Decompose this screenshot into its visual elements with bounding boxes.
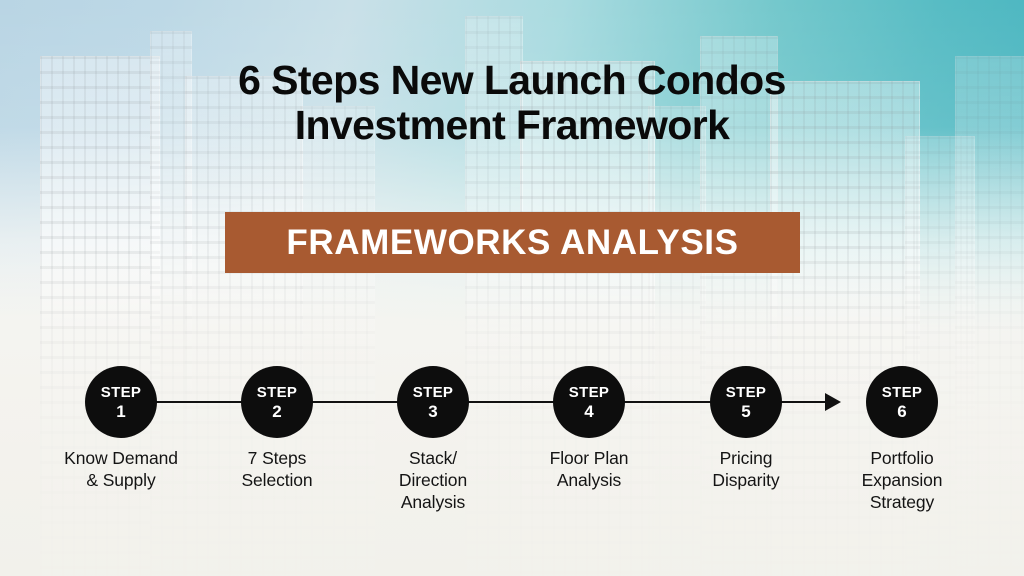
timeline-step-2[interactable]: STEP27 Steps Selection [187, 366, 367, 491]
step-kicker: STEP [257, 385, 297, 400]
step-badge-circle[interactable]: STEP3 [397, 366, 469, 438]
timeline-step-4[interactable]: STEP4Floor Plan Analysis [499, 366, 679, 491]
step-badge-circle[interactable]: STEP5 [710, 366, 782, 438]
presentation-slide: 6 Steps New Launch Condos Investment Fra… [0, 0, 1024, 576]
step-kicker: STEP [726, 385, 766, 400]
timeline-step-3[interactable]: STEP3Stack/ Direction Analysis [343, 366, 523, 513]
timeline-step-1[interactable]: STEP1Know Demand & Supply [31, 366, 211, 491]
step-kicker: STEP [101, 385, 141, 400]
step-number: 5 [741, 403, 750, 420]
step-number: 3 [428, 403, 437, 420]
step-label: Stack/ Direction Analysis [343, 447, 523, 513]
step-label: Pricing Disparity [656, 447, 836, 491]
section-banner-label: FRAMEWORKS ANALYSIS [286, 223, 738, 263]
step-label: Floor Plan Analysis [499, 447, 679, 491]
slide-title-line-1: 6 Steps New Launch Condos [238, 57, 786, 103]
step-label: Portfolio Expansion Strategy [812, 447, 992, 513]
step-number: 1 [116, 403, 125, 420]
step-number: 2 [272, 403, 281, 420]
step-badge-circle[interactable]: STEP2 [241, 366, 313, 438]
slide-title-line-2: Investment Framework [0, 103, 1024, 148]
step-badge-circle[interactable]: STEP4 [553, 366, 625, 438]
step-badge-circle[interactable]: STEP6 [866, 366, 938, 438]
step-kicker: STEP [882, 385, 922, 400]
step-badge-circle[interactable]: STEP1 [85, 366, 157, 438]
step-label: 7 Steps Selection [187, 447, 367, 491]
slide-title: 6 Steps New Launch Condos Investment Fra… [0, 58, 1024, 148]
step-kicker: STEP [413, 385, 453, 400]
steps-timeline: STEP1Know Demand & SupplySTEP27 Steps Se… [0, 366, 1024, 566]
step-kicker: STEP [569, 385, 609, 400]
step-label: Know Demand & Supply [31, 447, 211, 491]
timeline-step-6[interactable]: STEP6Portfolio Expansion Strategy [812, 366, 992, 513]
step-number: 4 [584, 403, 593, 420]
timeline-step-5[interactable]: STEP5Pricing Disparity [656, 366, 836, 491]
step-number: 6 [897, 403, 906, 420]
section-banner: FRAMEWORKS ANALYSIS [225, 212, 800, 273]
